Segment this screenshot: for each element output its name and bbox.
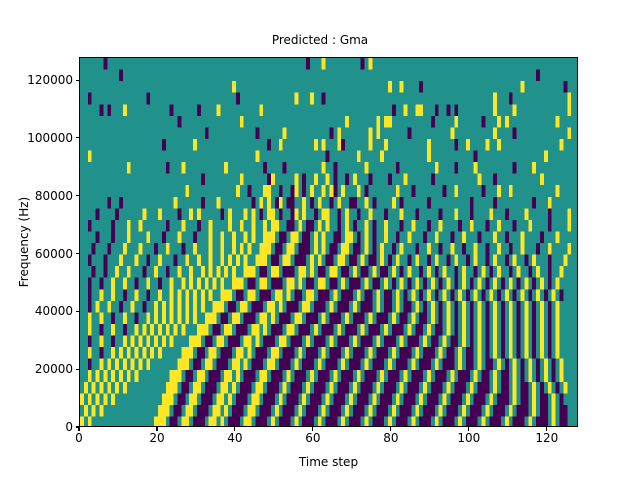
y-axis-label: Frequency (Hz) xyxy=(17,57,31,427)
matplotlib-figure: Predicted : Gma 020000400006000080000100… xyxy=(0,0,640,480)
heatmap-image xyxy=(80,58,578,427)
x-axis-tick-label: 0 xyxy=(49,432,109,444)
y-axis-tick-label: 40000 xyxy=(0,305,73,317)
x-axis-tick-label: 20 xyxy=(127,432,187,444)
heatmap-axes xyxy=(79,57,578,427)
x-axis-tick-label: 40 xyxy=(205,432,265,444)
y-axis-tick-label: 20000 xyxy=(0,363,73,375)
x-axis-tick-mark xyxy=(156,427,157,431)
x-axis-label: Time step xyxy=(79,455,578,469)
y-axis-tick-label: 0 xyxy=(0,421,73,433)
x-axis-tick-mark xyxy=(546,427,547,431)
y-axis-tick-label: 100000 xyxy=(0,132,73,144)
x-axis-tick-label: 60 xyxy=(283,432,343,444)
y-axis-tick-label: 60000 xyxy=(0,248,73,260)
y-axis-tick-label: 120000 xyxy=(0,74,73,86)
x-axis-tick-mark xyxy=(234,427,235,431)
x-axis-tick-mark xyxy=(390,427,391,431)
y-axis-tick-label: 80000 xyxy=(0,190,73,202)
x-axis-tick-mark xyxy=(312,427,313,431)
x-axis-tick-mark xyxy=(468,427,469,431)
x-axis-tick-label: 100 xyxy=(439,432,499,444)
page-title: Predicted : Gma xyxy=(0,33,640,47)
x-axis-tick-label: 80 xyxy=(361,432,421,444)
x-axis-tick-label: 120 xyxy=(517,432,577,444)
x-axis-tick-mark xyxy=(78,427,79,431)
